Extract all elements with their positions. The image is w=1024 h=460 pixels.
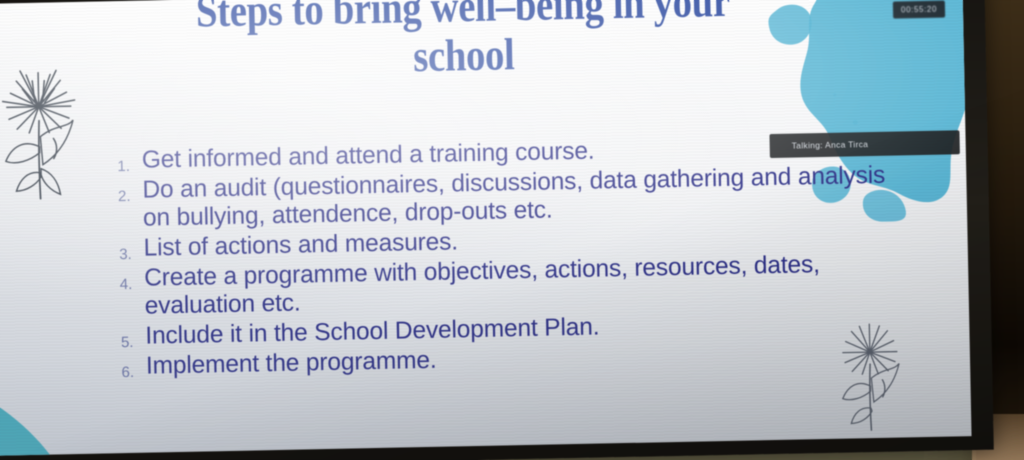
steps-list: 1. Get informed and attend a training co… xyxy=(96,132,891,383)
list-item-number: 3. xyxy=(97,235,144,263)
list-item-text: Implement the programme. xyxy=(146,346,437,380)
list-item-number: 1. xyxy=(96,147,143,175)
meeting-timer-badge: 00:55:20 xyxy=(893,1,945,19)
list-item-number: 5. xyxy=(99,323,146,351)
page-title: Steps to bring well–being in your school xyxy=(153,0,774,86)
list-item-number: 6. xyxy=(100,352,147,380)
monitor-bezel: Steps to bring well–being in your school… xyxy=(0,0,994,460)
active-speaker-label: Talking: Anca Tirca xyxy=(769,130,959,158)
list-item-number: 2. xyxy=(96,176,143,204)
photo-scene: Steps to bring well–being in your school… xyxy=(0,0,1024,460)
cornflower-sketch-icon xyxy=(0,60,87,202)
presentation-slide: Steps to bring well–being in your school… xyxy=(0,0,972,456)
list-item-number: 4. xyxy=(98,264,145,292)
